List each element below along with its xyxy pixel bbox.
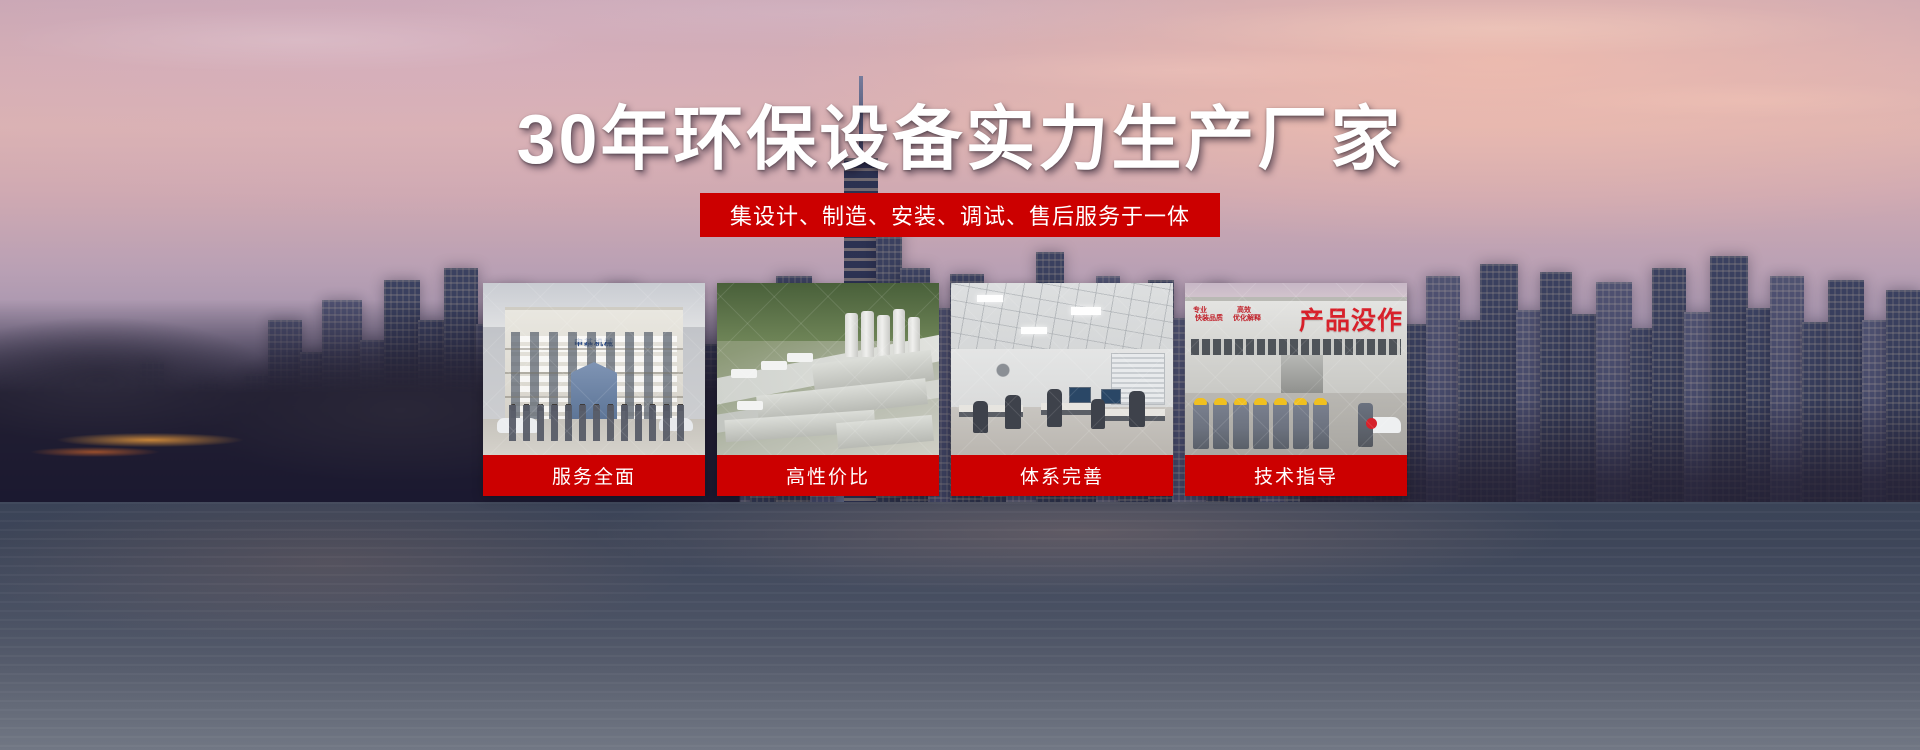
hero-banner: 30年环保设备实力生产厂家 集设计、制造、安装、调试、售后服务于一体 申基机械 [0,0,1920,750]
card-1-photo: 申基机械 [483,283,705,455]
card-4-photo: 产品没作 快装品质 专业 高效 优化解释 [1185,283,1407,455]
feature-card-1[interactable]: 申基机械 服务全面 [483,283,705,496]
card-2-label: 高性价比 [717,455,939,496]
card-4-slogan-2: 专业 [1193,307,1207,316]
card-3-label: 体系完善 [951,455,1173,496]
card-3-label-text: 体系完善 [1020,462,1104,489]
card-4-slogan-4: 优化解释 [1233,315,1261,324]
banner-headline: 30年环保设备实力生产厂家 [0,104,1920,174]
river-water [0,502,1920,750]
card-2-photo [717,283,939,455]
card-4-slogan-1: 快装品质 [1195,315,1223,324]
feature-card-row: 申基机械 服务全面 [483,283,1437,496]
card-4-wall-banner: 产品没作 [1299,301,1403,337]
banner-subtitle-text: 集设计、制造、安装、调试、售后服务于一体 [730,199,1190,231]
card-4-label-text: 技术指导 [1254,462,1338,489]
card-1-label: 服务全面 [483,455,705,496]
feature-card-4[interactable]: 产品没作 快装品质 专业 高效 优化解释 [1185,283,1407,496]
card-4-label: 技术指导 [1185,455,1407,496]
feature-card-2[interactable]: 高性价比 [717,283,939,496]
water-reflection [0,502,1920,750]
card-3-photo [951,283,1173,455]
card-2-label-text: 高性价比 [786,462,870,489]
card-1-label-text: 服务全面 [552,462,636,489]
feature-card-3[interactable]: 体系完善 [951,283,1173,496]
banner-subtitle-bar: 集设计、制造、安装、调试、售后服务于一体 [700,193,1220,237]
